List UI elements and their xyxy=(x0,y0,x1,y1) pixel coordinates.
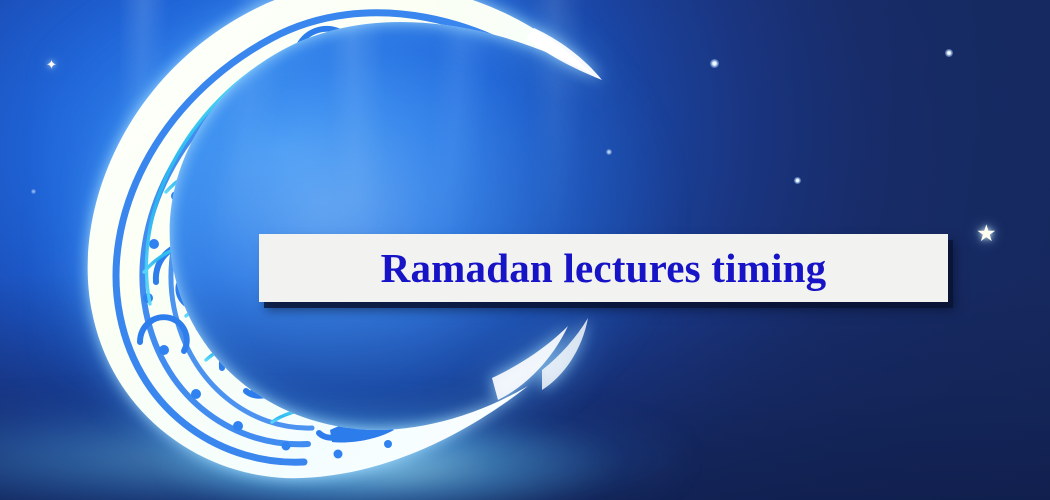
ramadan-banner-image: ✦ ★ xyxy=(0,0,1050,500)
title-banner-plate: Ramadan lectures timing xyxy=(259,234,948,302)
banner-title-text: Ramadan lectures timing xyxy=(381,244,827,292)
